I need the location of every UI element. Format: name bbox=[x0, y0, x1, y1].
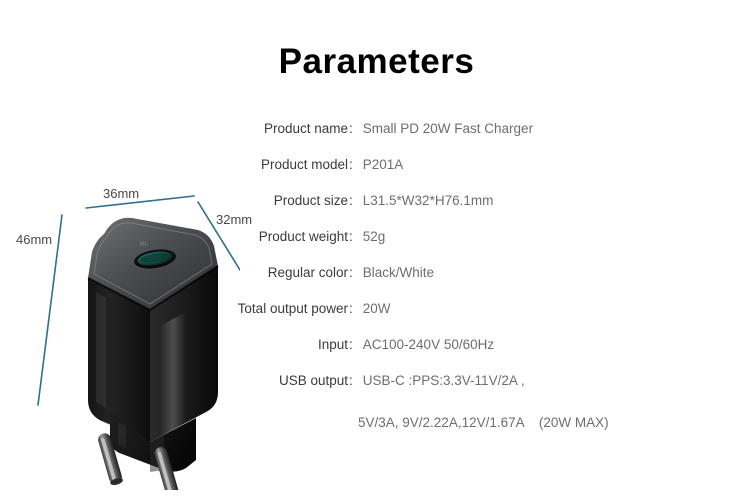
spec-label-total-output-power: Total output power bbox=[232, 299, 348, 317]
page-title: Parameters bbox=[0, 42, 750, 82]
spec-label-input: Input bbox=[232, 335, 348, 353]
specifications-table: Product name : Small PD 20W Fast Charger… bbox=[232, 119, 732, 407]
spec-value-product-name: Small PD 20W Fast Charger bbox=[363, 119, 533, 137]
page-title-text: Parameters bbox=[279, 42, 475, 82]
spec-colon: : bbox=[348, 263, 353, 281]
spec-value-usb-output-line2: 5V/3A, 9V/2.22A,12V/1.67A (20W MAX) bbox=[358, 415, 609, 430]
spec-colon: : bbox=[348, 299, 353, 317]
spec-label-product-weight: Product weight bbox=[232, 227, 348, 245]
spec-row-product-model: Product model : P201A bbox=[232, 155, 732, 191]
charger-icon: IIIL bbox=[0, 160, 240, 490]
spec-row-product-weight: Product weight : 52g bbox=[232, 227, 732, 263]
spec-colon: : bbox=[348, 335, 353, 353]
spec-colon: : bbox=[348, 191, 353, 209]
spec-value-regular-color: Black/White bbox=[363, 263, 434, 281]
spec-label-usb-output: USB output bbox=[232, 371, 348, 389]
spec-label-product-name: Product name bbox=[232, 119, 348, 137]
spec-colon: : bbox=[348, 119, 353, 137]
spec-label-product-model: Product model bbox=[232, 155, 348, 173]
spec-row-input: Input : AC100-240V 50/60Hz bbox=[232, 335, 732, 371]
spec-value-input: AC100-240V 50/60Hz bbox=[363, 335, 494, 353]
spec-label-product-size: Product size bbox=[232, 191, 348, 209]
spec-colon: : bbox=[348, 227, 353, 245]
spec-row-product-size: Product size : L31.5*W32*H76.1mm bbox=[232, 191, 732, 227]
spec-colon: : bbox=[348, 371, 353, 389]
spec-row-product-name: Product name : Small PD 20W Fast Charger bbox=[232, 119, 732, 155]
spec-value-usb-output: USB-C :PPS:3.3V-11V/2A , bbox=[363, 371, 525, 389]
spec-row-usb-output: USB output : USB-C :PPS:3.3V-11V/2A , bbox=[232, 371, 732, 407]
spec-colon: : bbox=[348, 155, 353, 173]
spec-value-product-weight: 52g bbox=[363, 227, 386, 245]
spec-row-regular-color: Regular color : Black/White bbox=[232, 263, 732, 299]
spec-label-regular-color: Regular color bbox=[232, 263, 348, 281]
product-figure: IIIL 36mm 46mm 32mm bbox=[0, 160, 240, 490]
spec-value-product-model: P201A bbox=[363, 155, 404, 173]
dimension-label-width: 36mm bbox=[103, 186, 139, 201]
dimension-label-height: 46mm bbox=[16, 232, 52, 247]
spec-value-total-output-power: 20W bbox=[363, 299, 391, 317]
spec-row-total-output-power: Total output power : 20W bbox=[232, 299, 732, 335]
spec-value-product-size: L31.5*W32*H76.1mm bbox=[363, 191, 494, 209]
